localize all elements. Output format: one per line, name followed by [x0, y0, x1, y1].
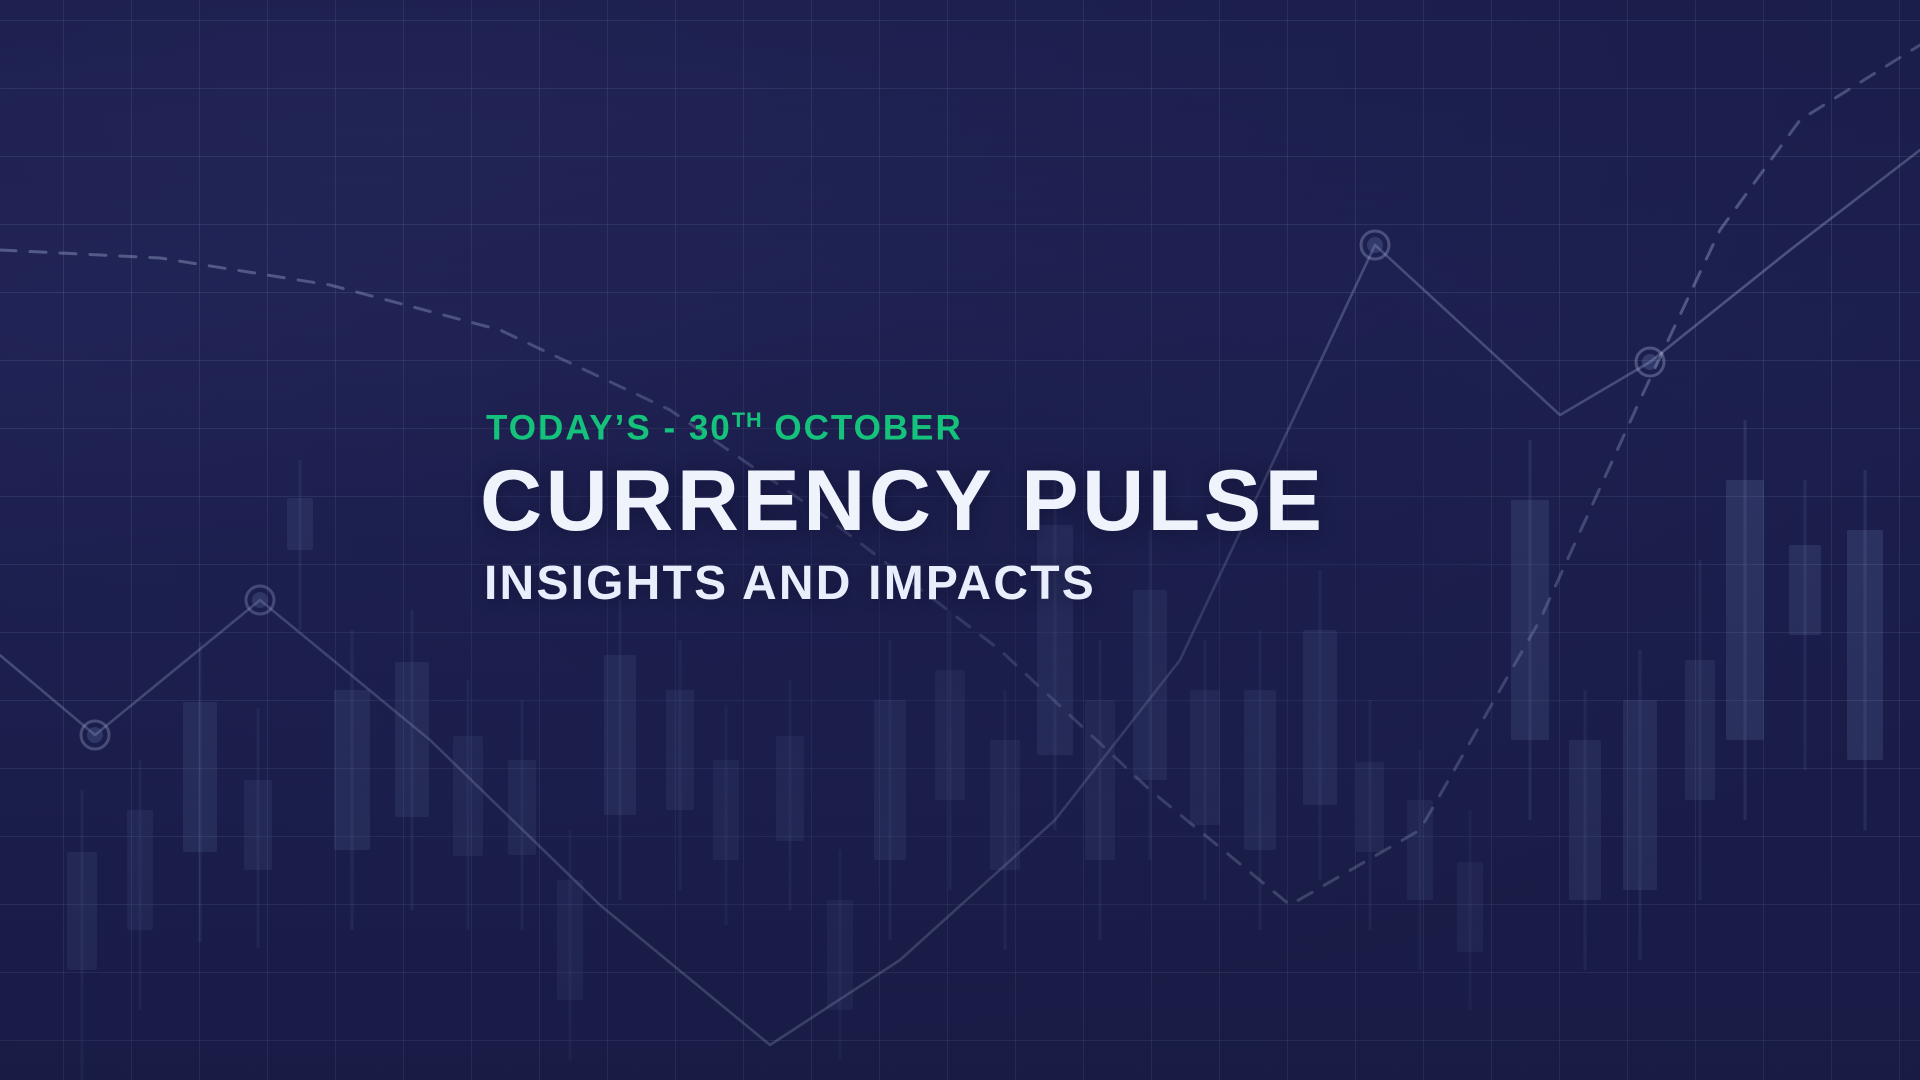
candle-wick — [199, 642, 202, 942]
candle-body — [287, 498, 313, 550]
kicker-prefix: TODAY’S - 30 — [486, 409, 732, 448]
candle-wick — [467, 680, 470, 930]
candle-wick — [351, 630, 354, 930]
candle-body — [1133, 590, 1167, 780]
candle-body — [244, 780, 272, 870]
candle-body — [604, 655, 636, 815]
candle-body — [67, 852, 97, 970]
candle-wick — [569, 830, 572, 1060]
candle-body — [1569, 740, 1601, 900]
candle-wick — [619, 600, 622, 900]
headline-block: TODAY’S - 30TH OCTOBER CURRENCY PULSE IN… — [480, 408, 1490, 608]
page-subtitle: INSIGHTS AND IMPACTS — [484, 560, 1490, 608]
candle-wick — [299, 460, 302, 630]
candle-wick — [949, 610, 952, 890]
candle-wick — [1744, 420, 1747, 820]
kicker-month: OCTOBER — [763, 409, 963, 448]
candle-body — [1847, 530, 1883, 760]
candle-wick — [1419, 750, 1422, 970]
candle-wick — [1204, 640, 1207, 900]
candle-body — [776, 736, 804, 841]
candle-body — [508, 760, 536, 855]
poster-canvas: TODAY’S - 30TH OCTOBER CURRENCY PULSE IN… — [0, 0, 1920, 1080]
line-marker-ring — [81, 721, 109, 749]
candle-body — [827, 900, 853, 1010]
kicker-ordinal-suffix: TH — [732, 407, 763, 432]
candle-wick — [1319, 570, 1322, 880]
candle-body — [453, 736, 483, 856]
candle-wick — [1099, 640, 1102, 940]
candle-body — [666, 690, 694, 810]
candle-body — [1789, 545, 1821, 635]
candle-wick — [679, 640, 682, 890]
candle-body — [395, 662, 429, 817]
page-title: CURRENCY PULSE — [480, 458, 1490, 544]
line-marker-dot — [87, 727, 103, 743]
candle-wick — [1004, 690, 1007, 950]
candle-body — [1303, 630, 1337, 805]
candle-body — [874, 700, 906, 860]
candle-wick — [139, 760, 142, 1010]
candle-body — [1726, 480, 1764, 740]
candle-body — [1085, 700, 1115, 860]
candle-body — [990, 740, 1020, 870]
candle-wick — [839, 850, 842, 1060]
line-marker-ring — [1361, 231, 1389, 259]
candle-wick — [1529, 440, 1532, 820]
candle-wick — [257, 708, 260, 948]
candle-body — [1457, 862, 1483, 952]
candle-body — [183, 702, 217, 852]
candle-wick — [1584, 690, 1587, 970]
candle-wick — [889, 640, 892, 940]
line-marker-dot — [1642, 354, 1658, 370]
candle-body — [334, 690, 370, 850]
candle-body — [1244, 690, 1276, 850]
candle-body — [1407, 800, 1433, 900]
candle-wick — [1469, 810, 1472, 1010]
date-kicker: TODAY’S - 30TH OCTOBER — [486, 408, 1490, 448]
candle-wick — [1369, 700, 1372, 930]
candle-body — [1685, 660, 1715, 800]
candle-body — [1623, 700, 1657, 890]
candle-body — [1190, 690, 1220, 825]
line-marker-dot — [252, 592, 268, 608]
candle-wick — [1804, 480, 1807, 770]
candle-body — [713, 760, 739, 860]
candle-wick — [1699, 560, 1702, 900]
candle-body — [1511, 500, 1549, 740]
candle-body — [557, 880, 583, 1000]
line-marker-dot — [1367, 237, 1383, 253]
candle-wick — [1259, 630, 1262, 930]
candle-wick — [411, 610, 414, 910]
candle-wick — [1864, 470, 1867, 830]
candle-body — [935, 670, 965, 800]
candle-body — [127, 810, 153, 930]
candle-wick — [81, 790, 84, 1080]
candle-wick — [789, 680, 792, 910]
candle-wick — [521, 700, 524, 930]
candle-wick — [1639, 650, 1642, 960]
line-marker-ring — [1636, 348, 1664, 376]
candle-wick — [725, 705, 728, 925]
candle-body — [1356, 762, 1384, 852]
line-marker-ring — [246, 586, 274, 614]
